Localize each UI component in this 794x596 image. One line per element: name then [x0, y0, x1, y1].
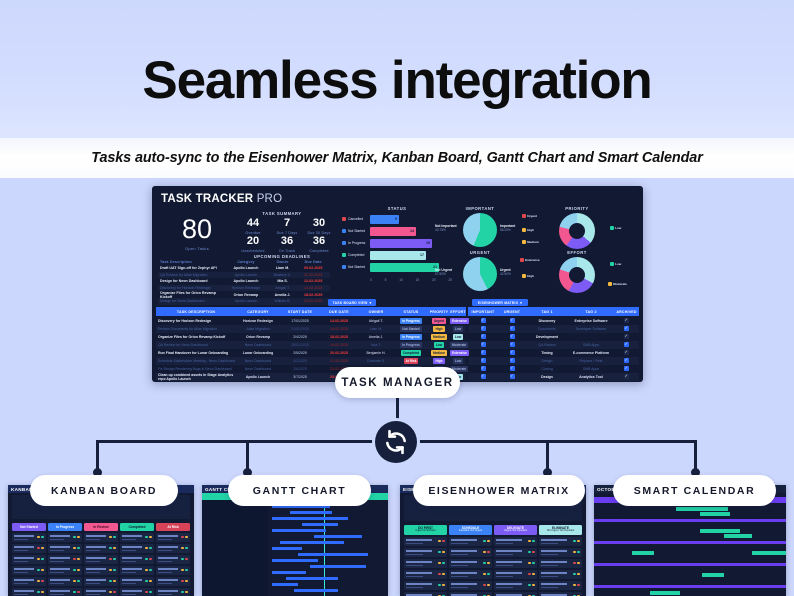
matrix-card[interactable]	[539, 537, 582, 546]
urgent-pie-chart	[463, 257, 497, 291]
cell-tag2: E-commerce Platform	[568, 351, 614, 355]
priority-badge: Medium	[431, 350, 447, 356]
status-badge: At Risk	[404, 358, 419, 364]
kanban-card[interactable]	[120, 588, 154, 596]
legend-swatch-icon	[608, 282, 612, 286]
priority-badge: Medium	[431, 334, 447, 340]
cell-owner: William B.	[267, 299, 299, 303]
gantt-bar	[272, 547, 302, 550]
cell-owner: Charlotte S.	[358, 359, 394, 363]
kpi-completed: 36 Completed	[298, 236, 340, 253]
effort-badge: Low	[453, 326, 463, 332]
urgent-checkbox[interactable]	[510, 342, 515, 347]
status-badge: In Progress	[400, 334, 422, 340]
effort-badge: Low	[453, 358, 463, 364]
donut-hole	[569, 267, 585, 283]
cell-due: 11-02-2025	[298, 273, 328, 277]
bar-value: 19	[426, 241, 430, 245]
cell-due: 14-02-2025	[298, 286, 328, 290]
legend-label: Low	[615, 262, 621, 266]
matrix-card[interactable]	[449, 537, 492, 546]
legend-label: Extensive	[525, 258, 539, 262]
cell-tag1: Timing	[526, 351, 568, 355]
important-checkbox[interactable]	[481, 326, 486, 331]
bar-label: Completed	[348, 253, 364, 257]
matrix-row[interactable]: Closing SMB Apps	[468, 365, 639, 373]
table-row[interactable]: Run Final Handover for Lunar Onboarding …	[156, 349, 466, 357]
priority-legend-urgent: Urgent	[522, 214, 537, 218]
matrix-card[interactable]	[494, 559, 537, 568]
tab-label: TASK BOARD VIEW	[333, 301, 368, 305]
archived-checkbox[interactable]	[624, 334, 629, 339]
calendar-event[interactable]	[676, 507, 728, 511]
matrix-card[interactable]	[404, 570, 447, 579]
important-not-label: Not Important 43.75%	[435, 224, 457, 232]
column-header: At Risk	[156, 523, 190, 531]
cell-owner: Benjamin H.	[358, 351, 394, 355]
cell-category: Horizon Redesign	[225, 286, 267, 290]
column-header: In Progress	[48, 523, 82, 531]
cell-owner: Amelia J.	[267, 293, 299, 297]
status-badge: In Progress	[400, 342, 422, 348]
cell-category: Neon Dashboard	[236, 367, 280, 371]
table-row[interactable]: QA Review for Atlas Migration Apollo Lau…	[158, 272, 330, 279]
cell-task: QA Review for Neon Dashboard	[156, 343, 236, 347]
kanban-column-in-progress[interactable]: In Progress	[48, 523, 82, 596]
gantt-bar	[294, 589, 338, 592]
important-checkbox[interactable]	[481, 318, 486, 323]
kanban-card[interactable]	[156, 544, 190, 553]
bar-value: 14	[410, 229, 414, 233]
matrix-card[interactable]	[539, 581, 582, 590]
important-checkbox[interactable]	[481, 334, 486, 339]
cell-tag2: Analytics Tool	[568, 375, 614, 379]
kpi-label: Completed	[298, 249, 340, 253]
cell-tag2: Replace / Rest	[568, 359, 614, 363]
bar-label: Not Started	[348, 229, 365, 233]
legend-swatch-icon	[342, 217, 346, 221]
cell-tag2: Enterprise Software	[568, 319, 614, 323]
legend-label: Moderate	[613, 282, 627, 286]
cell-tag1: Documents	[526, 327, 568, 331]
kanban-card[interactable]	[48, 566, 82, 575]
kanban-card[interactable]	[48, 544, 82, 553]
node-label: EISENHOWER MATRIX	[428, 485, 569, 497]
table-row[interactable]: QA Review for Neon Dashboard Neon Dashbo…	[156, 341, 466, 349]
important-checkbox[interactable]	[481, 374, 486, 379]
legend-swatch-icon	[342, 241, 346, 245]
col-status: STATUS	[394, 310, 428, 314]
urgent-yes-label: Urgent 42.50%	[500, 268, 511, 276]
gantt-bar	[272, 559, 318, 562]
slice-pct: 57.50%	[435, 272, 446, 276]
col-task-description: TASK DESCRIPTION	[156, 310, 236, 314]
matrix-card[interactable]	[494, 570, 537, 579]
cell-owner: Liam M.	[267, 266, 299, 270]
bar-legend: Cancelled	[342, 217, 370, 221]
gantt-bar	[272, 529, 326, 532]
cell-tag1: Design	[526, 359, 568, 363]
table-row[interactable]: Review Documents for Atlas Migration Atl…	[156, 325, 466, 333]
col-priority: PRIORITY	[428, 310, 450, 314]
bar-value: 17	[420, 253, 424, 257]
kanban-column-not-started[interactable]: Not Started	[12, 523, 46, 596]
cell-due: 19-02-2025	[320, 343, 358, 347]
kanban-column-completed[interactable]: Completed	[120, 523, 154, 596]
legend-label: Urgent	[527, 214, 537, 218]
priority-chart-title: PRIORITY	[547, 206, 607, 211]
gantt-bar	[290, 511, 332, 514]
matrix-card[interactable]	[404, 559, 447, 568]
legend-swatch-icon	[342, 253, 346, 257]
status-chart-title: STATUS	[342, 206, 452, 211]
cell-start: 3/7/2025	[280, 375, 320, 379]
legend-swatch-icon	[522, 228, 526, 232]
cell-due: 20-02-2025	[298, 299, 328, 303]
cell-category: Lunar Onboarding	[236, 351, 280, 355]
matrix-row[interactable]: Documents Developer Software	[468, 325, 639, 333]
bar-not-started: 14	[370, 227, 416, 236]
kanban-card[interactable]	[156, 533, 190, 542]
matrix-card[interactable]	[449, 548, 492, 557]
cell-category: Orion Revamp	[225, 293, 267, 297]
cell-category: Atlas Migration	[236, 327, 280, 331]
quadrant-sub: Important, Not Urgent	[459, 530, 482, 532]
gantt-bar	[280, 541, 344, 544]
sync-refresh-icon	[375, 421, 417, 463]
deadlines-title: UPCOMING DEADLINES	[230, 254, 334, 259]
slice-pct: 42.50%	[500, 272, 511, 276]
matrix-card[interactable]	[404, 581, 447, 590]
cell-tag1: Closing	[526, 367, 568, 371]
cell-due: 14-02-2025	[320, 319, 358, 323]
node-gantt-chart[interactable]: GANTT CHART	[228, 475, 371, 506]
archived-checkbox[interactable]	[624, 318, 629, 323]
legend-swatch-icon	[342, 229, 346, 233]
kanban-card[interactable]	[84, 577, 118, 586]
col-due-date: DUE DATE	[320, 310, 358, 314]
important-checkbox[interactable]	[481, 358, 486, 363]
kanban-card[interactable]	[84, 566, 118, 575]
gantt-bar	[272, 583, 298, 586]
bar-row: In Progress 19	[342, 239, 432, 248]
table-row[interactable]: Draft UAT Sign-off for Zephyr API Apollo…	[158, 265, 330, 272]
axis-tick: 20	[432, 278, 436, 282]
kanban-card[interactable]	[12, 588, 46, 596]
cell-owner: Noa T.	[358, 343, 394, 347]
cell-tag1: Development	[526, 335, 568, 339]
cell-tag2: SMB Apps	[568, 367, 614, 371]
cell-category: Orion Revamp	[236, 335, 280, 339]
cell-category: Neon Dashboard	[236, 359, 280, 363]
kanban-column-at-risk[interactable]: At Risk	[156, 523, 190, 596]
matrix-card[interactable]	[494, 581, 537, 590]
legend-swatch-icon	[342, 265, 346, 269]
node-task-manager[interactable]: TASK MANAGER	[335, 367, 460, 398]
cell-due: 21-02-2025	[320, 359, 358, 363]
node-label: TASK MANAGER	[341, 377, 453, 389]
tab-task-board[interactable]: TASK BOARD VIEW ▾	[328, 299, 376, 306]
col-effort: EFFORT	[450, 310, 466, 314]
urgent-checkbox[interactable]	[510, 358, 515, 363]
node-kanban-board[interactable]: KANBAN BOARD	[30, 475, 178, 506]
effort-donut-chart	[559, 257, 595, 293]
calendar-week-band	[594, 519, 786, 522]
table-row[interactable]: Design for Neon Dashboard Apollo Launch …	[158, 298, 330, 305]
matrix-card[interactable]	[404, 592, 447, 596]
table-row[interactable]: Schedule Stakeholder Meeting - Neon Dash…	[156, 357, 466, 365]
archived-checkbox[interactable]	[624, 366, 629, 371]
calendar-event[interactable]	[752, 551, 786, 555]
matrix-card[interactable]	[404, 537, 447, 546]
eisenhower-quadrant-do-first[interactable]: DO FIRST Urgent & Important	[404, 525, 447, 596]
important-pie-chart	[463, 213, 497, 247]
eisenhower-quadrant-schedule[interactable]: SCHEDULE Important, Not Urgent	[449, 525, 492, 596]
bar-label: Cancelled	[348, 217, 363, 221]
quadrant-sub: Urgent & Important	[415, 530, 435, 532]
col-tag2: TAG 2	[568, 310, 614, 314]
calendar-event[interactable]	[700, 529, 740, 533]
gantt-bar	[310, 565, 366, 568]
legend-label: High	[527, 228, 534, 232]
urgent-checkbox[interactable]	[510, 318, 515, 323]
cell-tag1: QA Review	[526, 343, 568, 347]
archived-checkbox[interactable]	[624, 326, 629, 331]
node-eisenhower-matrix[interactable]: EISENHOWER MATRIX	[413, 475, 585, 506]
kanban-card[interactable]	[84, 555, 118, 564]
matrix-card[interactable]	[539, 548, 582, 557]
col-task: Task Description	[160, 260, 225, 264]
effort-badge: Moderate	[450, 342, 468, 348]
cell-task: Design for Neon Dashboard	[160, 279, 225, 283]
effort-badge: Low	[453, 334, 463, 340]
kpi-value: 36	[298, 236, 340, 247]
quadrant-sub: Not Urgent, Not Important	[547, 530, 574, 532]
kanban-card[interactable]	[120, 544, 154, 553]
axis-tick: 10	[399, 278, 403, 282]
tab-label: EISENHOWER MATRIX	[478, 301, 518, 305]
task-summary-title: TASK SUMMARY	[230, 211, 334, 216]
column-header: Completed	[120, 523, 154, 531]
matrix-card[interactable]	[539, 559, 582, 568]
urgent-not-label: Not Urgent 57.50%	[435, 268, 452, 276]
archived-checkbox[interactable]	[624, 374, 629, 379]
axis-tick: 15	[416, 278, 420, 282]
bar-cancelled: 9	[370, 215, 399, 224]
matrix-row[interactable]: Development	[468, 333, 639, 341]
tasks-table-header: TASK DESCRIPTION CATEGORY START DATE DUE…	[156, 307, 466, 316]
kanban-card[interactable]	[120, 555, 154, 564]
cell-task: Clean up combined assets in Stage Analyt…	[156, 373, 236, 381]
kanban-card[interactable]	[48, 577, 82, 586]
kanban-card[interactable]	[12, 577, 46, 586]
matrix-row[interactable]: Design Replace / Rest	[468, 357, 639, 365]
dashboard-brand: TASK TRACKER PRO	[161, 193, 282, 205]
important-checkbox[interactable]	[481, 366, 486, 371]
kanban-card[interactable]	[120, 533, 154, 542]
urgent-checkbox[interactable]	[510, 334, 515, 339]
cell-due: 18-02-2025	[320, 335, 358, 339]
node-smart-calendar[interactable]: SMART CALENDAR	[613, 475, 776, 506]
cell-owner: Liam M.	[358, 327, 394, 331]
matrix-card[interactable]	[449, 559, 492, 568]
chevron-down-icon: ▾	[370, 301, 372, 305]
matrix-row[interactable]: Timing E-commerce Platform	[468, 349, 639, 357]
matrix-table-header: IMPORTANT URGENT TAG 1 TAG 2 ARCHIVED	[468, 307, 639, 316]
bar-row: Completed 17	[342, 251, 426, 260]
node-label: KANBAN BOARD	[51, 485, 157, 497]
calendar-week-band	[594, 585, 786, 588]
bar-row: Not Started 21	[342, 263, 439, 272]
matrix-card[interactable]	[449, 570, 492, 579]
matrix-row[interactable]: QA Review SMB Apps	[468, 341, 639, 349]
urgent-checkbox[interactable]	[510, 366, 515, 371]
matrix-card[interactable]	[404, 548, 447, 557]
eisenhower-quadrant-eliminate[interactable]: ELIMINATE Not Urgent, Not Important	[539, 525, 582, 596]
cell-task: QA Review for Atlas Migration	[160, 273, 225, 277]
table-row[interactable]: Discovery for Horizon Redesign Horizon R…	[156, 317, 466, 325]
quadrant-sub: Urgent, Not Important	[504, 530, 527, 532]
priority-legend-high: High	[522, 228, 534, 232]
page-title: Seamless integration	[0, 54, 794, 107]
cell-task: Discovery for Horizon Redesign	[160, 286, 225, 290]
cell-start: 2/6/2025	[280, 367, 320, 371]
archived-checkbox[interactable]	[624, 358, 629, 363]
calendar-event[interactable]	[724, 534, 752, 538]
effort-legend-high: High	[522, 274, 534, 278]
urgent-chart-title: URGENT	[452, 250, 508, 255]
legend-swatch-icon	[522, 274, 526, 278]
kanban-card[interactable]	[48, 533, 82, 542]
archived-checkbox[interactable]	[624, 342, 629, 347]
effort-legend-moderate: Moderate	[608, 282, 627, 286]
cell-task: Schedule Stakeholder Meeting - Neon Dash…	[156, 359, 236, 363]
cell-owner: Mia S.	[267, 279, 299, 283]
cell-task: Organize Files for Orion Revamp Kickoff	[156, 335, 236, 339]
axis-tick: 5	[385, 278, 387, 282]
brand-light: PRO	[257, 193, 283, 205]
cell-category: Apollo Launch	[225, 273, 267, 277]
matrix-card[interactable]	[494, 592, 537, 596]
calendar-event[interactable]	[700, 512, 730, 516]
important-checkbox[interactable]	[481, 350, 486, 355]
tab-eisenhower-matrix[interactable]: EISENHOWER MATRIX ▾	[472, 299, 528, 306]
upcoming-deadlines-table[interactable]: Task Description Category Owner Due Date…	[158, 260, 330, 305]
calendar-week-band	[594, 563, 786, 566]
subtitle-text: Tasks auto-sync to the Eisenhower Matrix…	[91, 150, 702, 166]
gantt-bar	[272, 571, 306, 574]
calendar-event[interactable]	[632, 551, 654, 555]
cell-tag1: Discovery	[526, 319, 568, 323]
priority-legend-medium: Medium	[522, 240, 539, 244]
status-badge: Not Started	[400, 326, 421, 332]
cell-owner: Amelia J.	[358, 335, 394, 339]
kanban-card[interactable]	[12, 566, 46, 575]
calendar-event[interactable]	[702, 573, 724, 577]
gantt-task-list	[202, 500, 268, 596]
col-tag1: TAG 1	[526, 310, 568, 314]
cell-due: 09-02-2025	[298, 266, 328, 270]
matrix-card[interactable]	[449, 581, 492, 590]
kanban-card[interactable]	[84, 588, 118, 596]
eisenhower-quadrant-delegate[interactable]: DELEGATE Urgent, Not Important	[494, 525, 537, 596]
task-tracker-dashboard[interactable]: TASK TRACKER PRO 80 Open Tasks TASK SUMM…	[152, 186, 643, 382]
cell-task: Run Final Handover for Lunar Onboarding	[156, 351, 236, 355]
kanban-card[interactable]	[12, 555, 46, 564]
table-row[interactable]: Design for Neon Dashboard Apollo Launch …	[158, 278, 330, 285]
kanban-card[interactable]	[48, 588, 82, 596]
cell-start: 21/01/2025	[280, 327, 320, 331]
slice-pct: 43.75%	[435, 228, 446, 232]
effort-badge: Extensive	[450, 350, 469, 356]
important-yes-label: Important 56.25%	[500, 224, 515, 232]
bar-legend: In Progress	[342, 241, 370, 245]
cell-start: 17/01/2025	[280, 319, 320, 323]
important-checkbox[interactable]	[481, 342, 486, 347]
kanban-card[interactable]	[84, 544, 118, 553]
kanban-card[interactable]	[84, 533, 118, 542]
column-header: Not Started	[12, 523, 46, 531]
kpi-value: 30	[298, 218, 340, 229]
cell-start: 4/2/2025	[280, 359, 320, 363]
matrix-card[interactable]	[449, 592, 492, 596]
bar-legend: Not Started	[342, 265, 370, 269]
kanban-column-in-review[interactable]: In Review	[84, 523, 118, 596]
legend-swatch-icon	[522, 214, 526, 218]
matrix-card[interactable]	[494, 537, 537, 546]
calendar-event[interactable]	[650, 591, 680, 595]
kanban-card[interactable]	[120, 577, 154, 586]
kanban-card[interactable]	[156, 555, 190, 564]
urgent-checkbox[interactable]	[510, 326, 515, 331]
kanban-card[interactable]	[12, 544, 46, 553]
gantt-bar	[302, 523, 338, 526]
open-tasks-label: Open Tasks	[166, 246, 228, 251]
table-row[interactable]: Organize Files for Orion Revamp Kickoff …	[158, 291, 330, 298]
column-header: In Review	[84, 523, 118, 531]
kanban-card[interactable]	[12, 533, 46, 542]
kanban-card[interactable]	[156, 588, 190, 596]
effort-legend-low: Low	[610, 262, 621, 266]
urgent-checkbox[interactable]	[510, 350, 515, 355]
kanban-card[interactable]	[120, 566, 154, 575]
matrix-card[interactable]	[494, 548, 537, 557]
col-owner: Owner	[267, 260, 299, 264]
axis-tick: 0	[370, 278, 372, 282]
cell-start: 28/01/2025	[280, 343, 320, 347]
bar-label: In Progress	[348, 241, 365, 245]
bar-value: 9	[395, 217, 397, 221]
kanban-card[interactable]	[156, 577, 190, 586]
table-row[interactable]: Organize Files for Orion Revamp Kickoff …	[156, 333, 466, 341]
kanban-card[interactable]	[48, 555, 82, 564]
urgent-checkbox[interactable]	[510, 374, 515, 379]
kanban-card[interactable]	[156, 566, 190, 575]
col-start-date: START DATE	[280, 310, 320, 314]
cell-start: 2/5/2025	[280, 351, 320, 355]
matrix-card[interactable]	[539, 592, 582, 596]
matrix-row[interactable]: Design Analytics Tool	[468, 373, 639, 381]
matrix-row[interactable]: Discovery Enterprise Software	[468, 317, 639, 325]
subtitle-band: Tasks auto-sync to the Eisenhower Matrix…	[0, 138, 794, 178]
hero-banner: Seamless integration	[0, 0, 794, 138]
cell-tag1: Design	[526, 375, 568, 379]
archived-checkbox[interactable]	[624, 350, 629, 355]
priority-badge: High	[433, 358, 444, 364]
priority-donut-chart	[559, 213, 595, 249]
matrix-card[interactable]	[539, 570, 582, 579]
cell-due: 16-02-2025	[320, 327, 358, 331]
